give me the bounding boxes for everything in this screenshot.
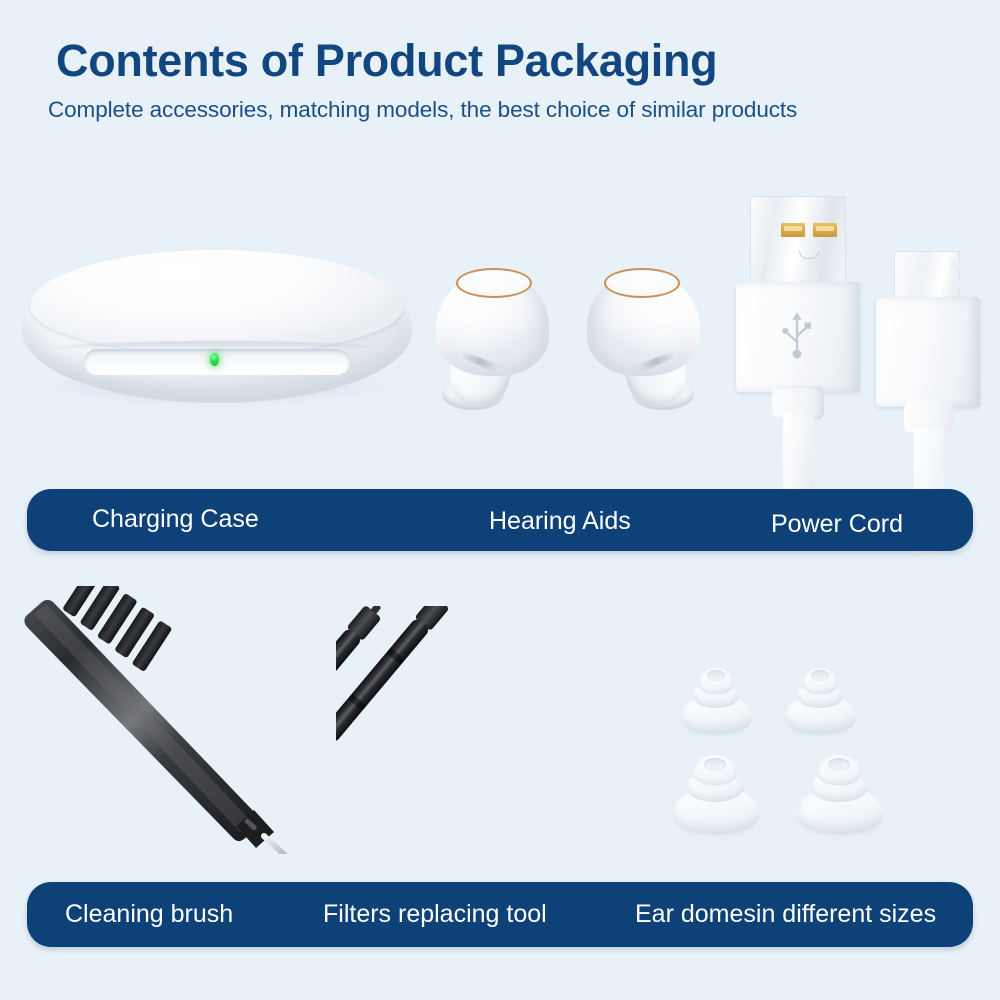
label-cleaning-brush: Cleaning brush xyxy=(65,902,233,927)
ear-dome-bore xyxy=(811,670,829,681)
ear-dome-bore xyxy=(707,670,725,681)
label-ear-domes: Ear domesin different sizes xyxy=(635,902,936,927)
cleaning-brush-image xyxy=(8,586,308,854)
usb-contact-pin xyxy=(781,223,805,237)
usb-a-cable xyxy=(783,414,813,498)
ear-dome-bore xyxy=(828,758,850,771)
micro-usb-housing xyxy=(876,297,980,407)
label-power-cord: Power Cord xyxy=(771,512,903,537)
brush-handle xyxy=(24,600,260,841)
label-bar-row-1: Charging Case Hearing Aids Power Cord xyxy=(27,489,973,551)
micro-usb-notch xyxy=(951,261,960,269)
label-bar-row-2: Cleaning brush Filters replacing tool Ea… xyxy=(27,882,973,947)
earbud-copper-ring xyxy=(604,268,680,298)
usb-a-metal-tongue xyxy=(750,196,846,288)
page-title: Contents of Product Packaging xyxy=(56,38,717,83)
header: Contents of Product Packaging Complete a… xyxy=(0,0,1000,150)
ear-dome-small-1 xyxy=(672,664,760,740)
charging-case-led-indicator xyxy=(210,353,219,366)
ear-dome-large-1 xyxy=(666,752,768,842)
charging-case-image xyxy=(22,245,412,410)
ear-dome-large-2 xyxy=(790,752,892,842)
ear-dome-small-2 xyxy=(776,664,864,740)
micro-usb-metal-tip xyxy=(894,251,960,303)
charging-case-lid xyxy=(30,250,404,354)
page-subtitle: Complete accessories, matching models, t… xyxy=(48,99,797,122)
usb-contact-pin xyxy=(813,223,837,237)
power-cord-image xyxy=(726,196,992,496)
usb-a-housing xyxy=(736,282,860,392)
usb-trident-icon xyxy=(776,310,818,362)
infographic-stage: Contents of Product Packaging Complete a… xyxy=(0,0,1000,1000)
earbud-copper-ring xyxy=(456,268,532,298)
label-charging-case: Charging Case xyxy=(92,507,259,532)
usb-a-slot xyxy=(799,251,819,259)
label-hearing-aids: Hearing Aids xyxy=(489,509,631,534)
usb-a-connector xyxy=(736,196,860,392)
hearing-aids-image xyxy=(434,266,716,418)
brush-wire-tip xyxy=(264,836,297,854)
earbud-right xyxy=(582,266,702,418)
earbud-left xyxy=(434,266,554,418)
micro-usb-notch xyxy=(951,279,960,287)
ear-domes-image xyxy=(666,664,906,844)
filters-replacing-tool-image xyxy=(336,606,586,822)
ear-dome-bore xyxy=(704,758,726,771)
label-filters-replacing-tool: Filters replacing tool xyxy=(323,902,547,927)
micro-usb-connector xyxy=(876,251,992,501)
